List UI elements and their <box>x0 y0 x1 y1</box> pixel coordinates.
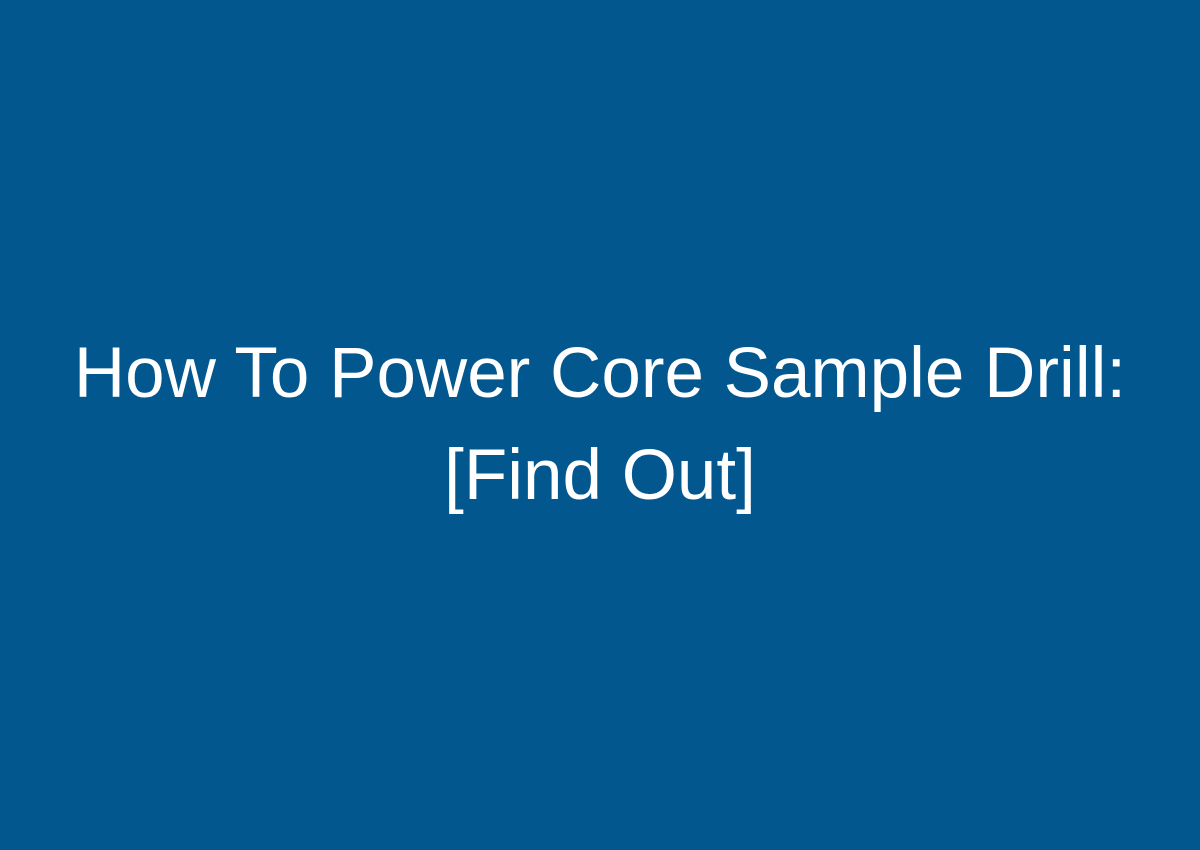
page-title: How To Power Core Sample Drill: [Find Ou… <box>50 323 1150 527</box>
hero-title-block: How To Power Core Sample Drill: [Find Ou… <box>50 323 1150 527</box>
page-title-line-1: How To Power Core Sample Drill: <box>50 323 1150 425</box>
hero-card: How To Power Core Sample Drill: [Find Ou… <box>0 0 1200 850</box>
page-title-line-2: [Find Out] <box>50 425 1150 527</box>
